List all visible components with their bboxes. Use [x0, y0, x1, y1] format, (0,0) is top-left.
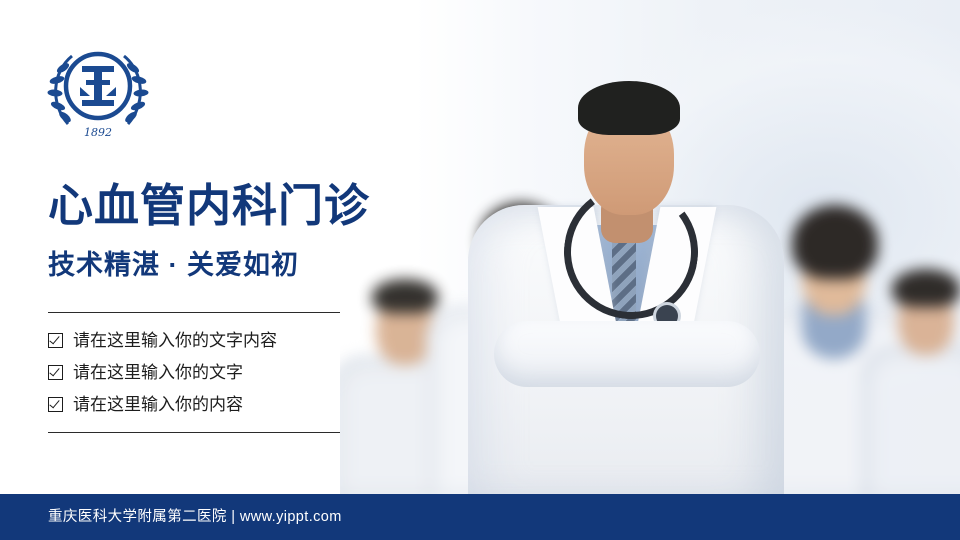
list-item-label: 请在这里输入你的文字: [73, 364, 243, 381]
page-subtitle: 技术精湛 · 关爱如初: [48, 252, 299, 279]
foreground-doctor: [460, 35, 790, 505]
bullet-list: 请在这里输入你的文字内容 请在这里输入你的文字 请在这里输入你的内容: [48, 325, 378, 421]
doctor-crossed-arms: [494, 321, 760, 387]
medical-team-photo: [340, 0, 960, 505]
presentation-slide: 1892 心血管内科门诊 技术精湛 · 关爱如初 请在这里输入你的文字内容 请在…: [0, 0, 960, 540]
list-item-label: 请在这里输入你的内容: [73, 396, 243, 413]
divider-top: [48, 312, 340, 313]
logo-year: 1892: [84, 126, 112, 139]
list-item[interactable]: 请在这里输入你的内容: [48, 389, 378, 419]
list-item[interactable]: 请在这里输入你的文字: [48, 357, 378, 387]
checkbox-checked-icon[interactable]: [48, 397, 63, 412]
list-item[interactable]: 请在这里输入你的文字内容: [48, 325, 378, 355]
background-person: [860, 255, 960, 505]
footer-text: 重庆医科大学附属第二医院 | www.yippt.com: [48, 494, 342, 540]
page-title: 心血管内科门诊: [48, 183, 370, 228]
divider-bottom: [48, 432, 340, 433]
footer-bar: 重庆医科大学附属第二医院 | www.yippt.com: [0, 494, 960, 540]
hospital-crest-logo: 1892: [42, 40, 154, 146]
checkbox-checked-icon[interactable]: [48, 333, 63, 348]
checkbox-checked-icon[interactable]: [48, 365, 63, 380]
list-item-label: 请在这里输入你的文字内容: [73, 332, 277, 349]
doctor-hair: [578, 81, 680, 135]
